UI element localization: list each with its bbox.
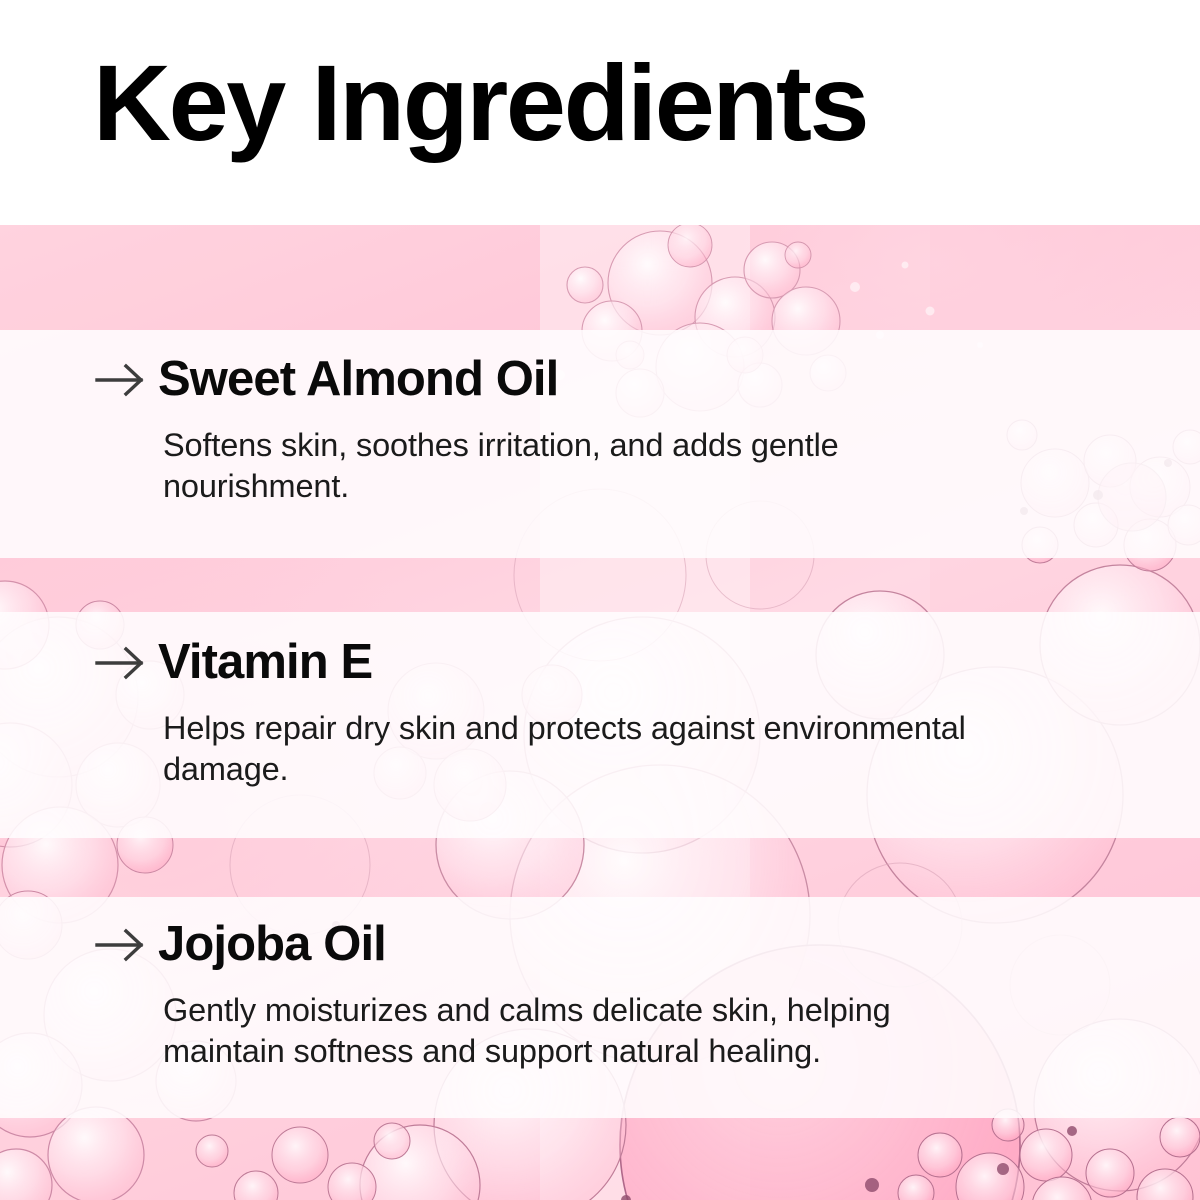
page-title: Key Ingredients <box>93 46 867 160</box>
ingredient-heading-row-1: Sweet Almond Oil <box>0 355 1200 404</box>
ingredient-name-2: Vitamin E <box>158 638 372 687</box>
ingredient-description-2: Helps repair dry skin and protects again… <box>0 708 1090 791</box>
ingredient-description-1: Softens skin, soothes irritation, and ad… <box>0 425 1090 508</box>
header: Key Ingredients <box>0 0 1200 225</box>
ingredient-heading-row-3: Jojoba Oil <box>0 920 1200 969</box>
ingredient-item-3: Jojoba Oil Gently moisturizes and calms … <box>0 920 1200 1073</box>
ingredient-name-3: Jojoba Oil <box>158 920 386 969</box>
ingredient-name-1: Sweet Almond Oil <box>158 355 558 404</box>
arrow-right-icon <box>93 643 149 683</box>
ingredient-item-2: Vitamin E Helps repair dry skin and prot… <box>0 638 1200 791</box>
arrow-right-icon <box>93 360 149 400</box>
ingredient-description-3: Gently moisturizes and calms delicate sk… <box>0 990 1090 1073</box>
ingredient-heading-row-2: Vitamin E <box>0 638 1200 687</box>
arrow-right-icon <box>93 925 149 965</box>
ingredient-card: Key Ingredients Sweet Almond Oil Softens… <box>0 0 1200 1200</box>
ingredient-item-1: Sweet Almond Oil Softens skin, soothes i… <box>0 355 1200 508</box>
